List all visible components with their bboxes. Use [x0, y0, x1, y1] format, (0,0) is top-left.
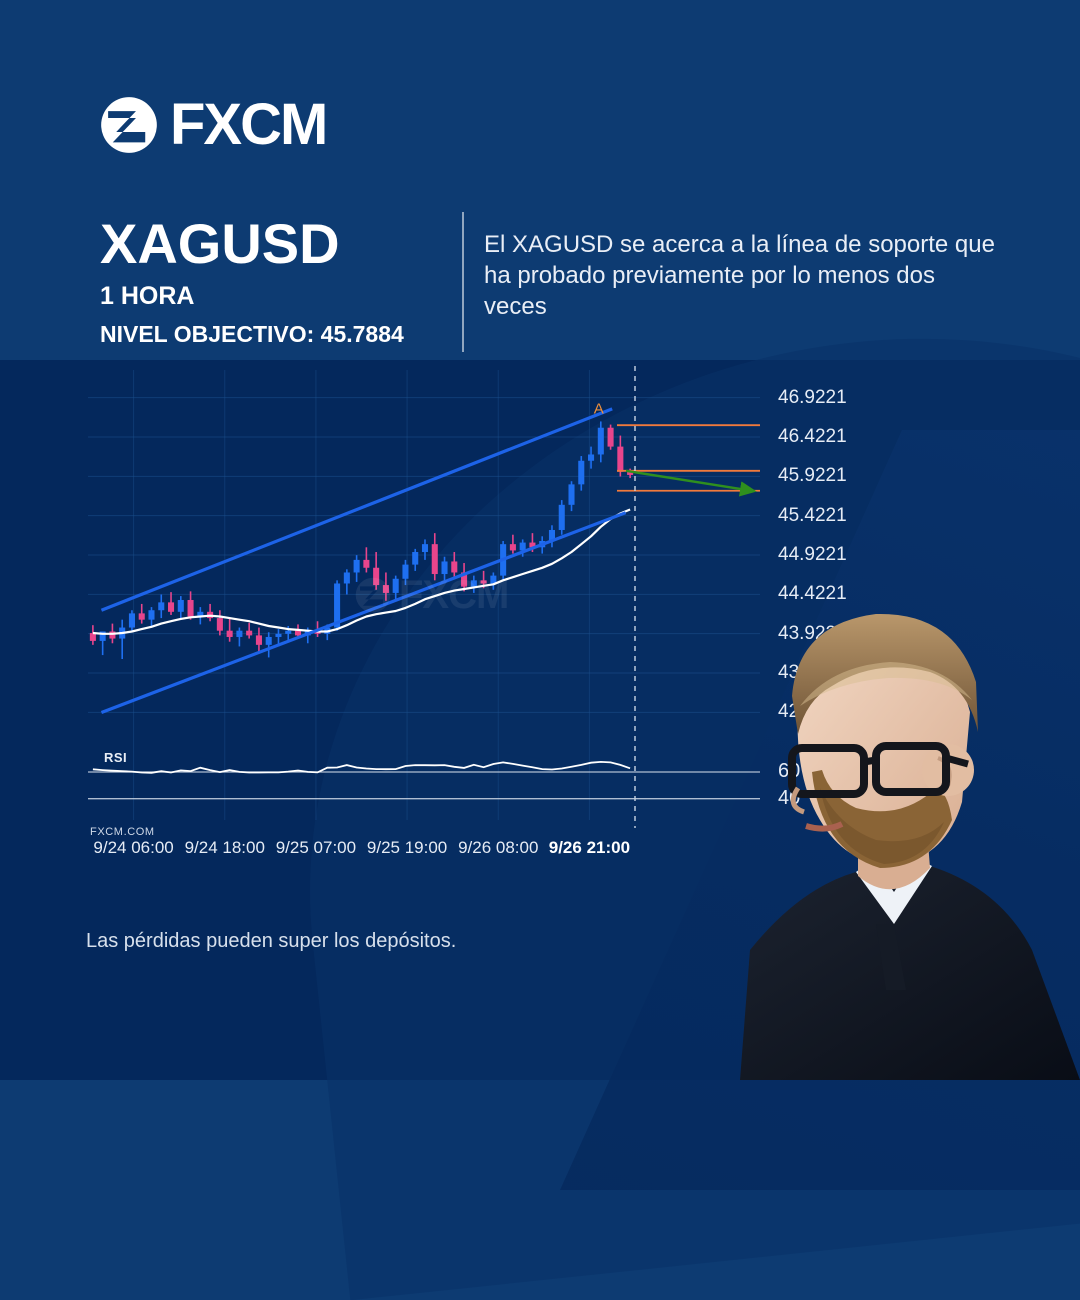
time-axis-tick: 9/24 06:00	[93, 838, 173, 858]
risk-disclaimer: Las pérdidas pueden super los depósitos.	[86, 930, 456, 953]
timeframe-label: 1 HORA	[100, 282, 440, 311]
time-axis-labels: 9/24 06:009/24 18:009/25 07:009/25 19:00…	[0, 838, 760, 868]
analysis-headline: El XAGUSD se acerca a la línea de soport…	[484, 230, 1004, 323]
fxcm-wordmark: FXCM	[170, 96, 326, 154]
peak-marker: A	[594, 401, 604, 418]
instrument-title-block: XAGUSD 1 HORA NIVEL OBJECTIVO: 45.7884	[100, 215, 440, 348]
chart-gridlines	[88, 370, 760, 820]
rsi-indicator	[88, 762, 760, 799]
price-axis-tick: 46.4221	[778, 426, 847, 448]
fxcm-site-label: FXCM.COM	[90, 826, 155, 838]
price-axis-tick: 45.9221	[778, 465, 847, 487]
time-axis-tick: 9/24 18:00	[185, 838, 265, 858]
time-axis-tick: 9/25 19:00	[367, 838, 447, 858]
target-level-label: NIVEL OBJECTIVO: 45.7884	[100, 321, 440, 348]
time-axis-tick: 9/26 08:00	[458, 838, 538, 858]
fxcm-z-logo-icon	[100, 96, 158, 154]
price-axis-tick: 46.9221	[778, 387, 847, 409]
businessman-photo	[680, 520, 1080, 1080]
vertical-divider	[462, 212, 464, 352]
target-arrow	[626, 471, 752, 491]
moving-average-line	[93, 510, 630, 634]
page-title: XAGUSD	[100, 215, 440, 274]
time-axis-tick: 9/25 07:00	[276, 838, 356, 858]
fxcm-brand-logo: FXCM	[100, 96, 326, 154]
rsi-indicator-label: RSI	[104, 750, 127, 765]
time-axis-tick: 9/26 21:00	[549, 838, 630, 858]
svg-text:A: A	[594, 401, 604, 418]
